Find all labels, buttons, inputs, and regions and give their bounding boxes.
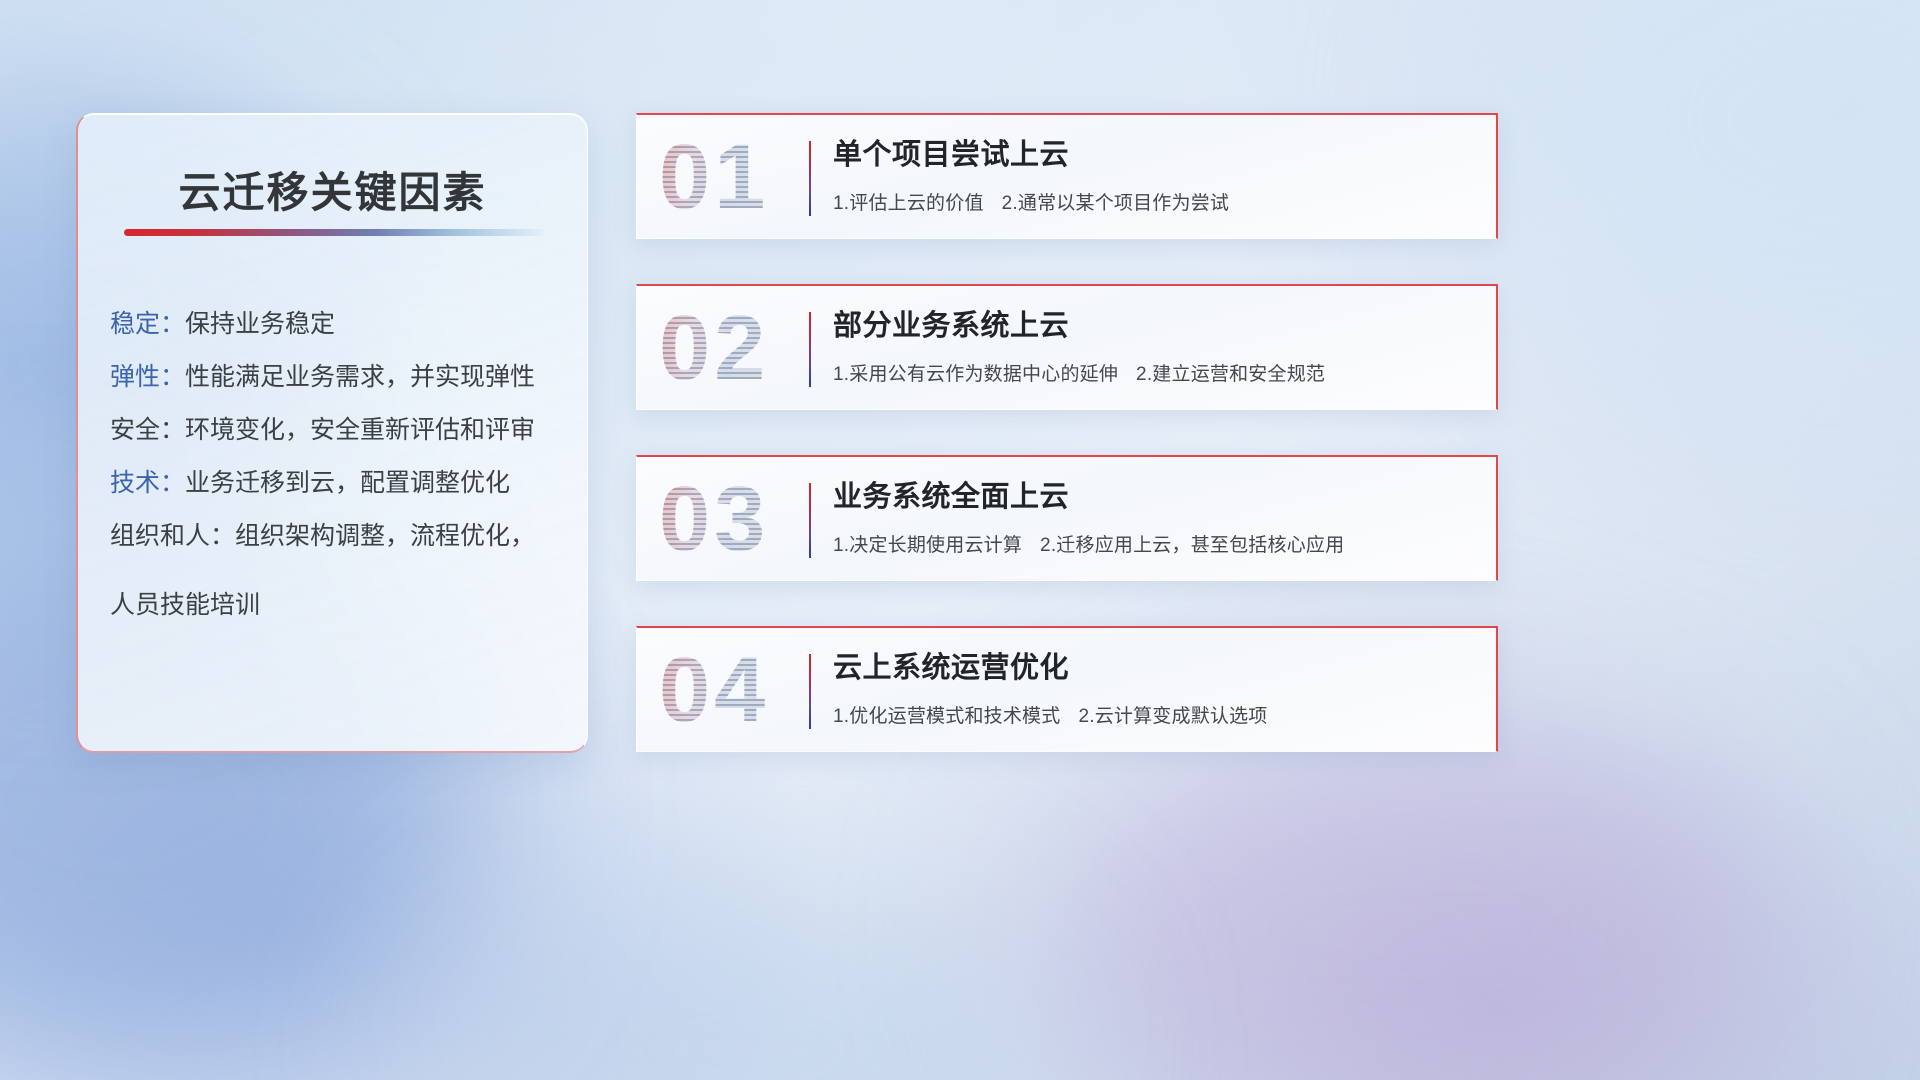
factor-item-organization-continuation: 人员技能培训 <box>110 585 563 621</box>
factor-label: 组织和人： <box>110 522 235 550</box>
factor-item-technology: 技术：业务迁移到云，配置调整优化 <box>110 471 563 496</box>
card-body: 业务系统全面上云 1.决定长期使用云计算2.迁移应用上云，甚至包括核心应用 <box>833 481 1478 557</box>
card-divider-line <box>809 483 811 558</box>
slide-root: 云迁移关键因素 稳定：保持业务稳定 弹性：性能满足业务需求，并实现弹性 安全：环… <box>0 0 1920 1080</box>
card-description-item-1: 1.采用公有云作为数据中心的延伸 <box>833 364 1118 385</box>
card-description-item-2: 2.通常以某个项目作为尝试 <box>1002 193 1229 214</box>
background-blob-upper-right <box>1480 0 1920 400</box>
stage-number-01: 01 <box>659 131 769 223</box>
background-blob-lower-right <box>1020 700 1780 1080</box>
card-description: 1.优化运营模式和技术模式2.云计算变成默认选项 <box>833 701 1478 728</box>
stage-card-01[interactable]: 01 单个项目尝试上云 1.评估上云的价值2.通常以某个项目作为尝试 <box>636 113 1498 239</box>
card-description: 1.决定长期使用云计算2.迁移应用上云，甚至包括核心应用 <box>833 530 1478 557</box>
card-body: 云上系统运营优化 1.优化运营模式和技术模式2.云计算变成默认选项 <box>833 652 1478 728</box>
page-title: 云迁移关键因素 <box>78 159 587 220</box>
card-title: 部分业务系统上云 <box>833 310 1478 343</box>
factor-text: 保持业务稳定 <box>185 310 335 338</box>
factor-label: 安全： <box>110 416 185 444</box>
card-description: 1.采用公有云作为数据中心的延伸2.建立运营和安全规范 <box>833 359 1478 386</box>
factor-list: 稳定：保持业务稳定 弹性：性能满足业务需求，并实现弹性 安全：环境变化，安全重新… <box>110 312 563 621</box>
factor-text: 环境变化，安全重新评估和评审 <box>185 416 535 444</box>
stage-card-03[interactable]: 03 业务系统全面上云 1.决定长期使用云计算2.迁移应用上云，甚至包括核心应用 <box>636 455 1498 581</box>
factor-text: 组织架构调整，流程优化， <box>235 522 535 550</box>
card-title: 业务系统全面上云 <box>833 481 1478 514</box>
card-description-item-2: 2.云计算变成默认选项 <box>1078 706 1267 727</box>
factor-label: 技术： <box>110 469 185 497</box>
factor-text: 业务迁移到云，配置调整优化 <box>185 469 510 497</box>
card-description: 1.评估上云的价值2.通常以某个项目作为尝试 <box>833 188 1478 215</box>
card-description-item-1: 1.优化运营模式和技术模式 <box>833 706 1060 727</box>
factor-item-elasticity: 弹性：性能满足业务需求，并实现弹性 <box>110 365 563 390</box>
card-description-item-2: 2.迁移应用上云，甚至包括核心应用 <box>1040 535 1344 556</box>
stage-card-04[interactable]: 04 云上系统运营优化 1.优化运营模式和技术模式2.云计算变成默认选项 <box>636 626 1498 752</box>
factor-item-security: 安全：环境变化，安全重新评估和评审 <box>110 418 563 443</box>
stage-card-02[interactable]: 02 部分业务系统上云 1.采用公有云作为数据中心的延伸2.建立运营和安全规范 <box>636 284 1498 410</box>
card-description-item-2: 2.建立运营和安全规范 <box>1136 364 1325 385</box>
stage-card-list: 01 单个项目尝试上云 1.评估上云的价值2.通常以某个项目作为尝试 02 部分… <box>636 113 1498 752</box>
card-body: 单个项目尝试上云 1.评估上云的价值2.通常以某个项目作为尝试 <box>833 139 1478 215</box>
card-title: 单个项目尝试上云 <box>833 139 1478 172</box>
factor-item-organization: 组织和人：组织架构调整，流程优化， <box>110 524 563 549</box>
card-body: 部分业务系统上云 1.采用公有云作为数据中心的延伸2.建立运营和安全规范 <box>833 310 1478 386</box>
card-title: 云上系统运营优化 <box>833 652 1478 685</box>
card-divider-line <box>809 141 811 216</box>
card-divider-line <box>809 654 811 729</box>
stage-number-03: 03 <box>659 473 769 565</box>
card-description-item-1: 1.评估上云的价值 <box>833 193 984 214</box>
stage-number-04: 04 <box>659 644 769 736</box>
key-factors-panel: 云迁移关键因素 稳定：保持业务稳定 弹性：性能满足业务需求，并实现弹性 安全：环… <box>76 113 588 753</box>
card-divider-line <box>809 312 811 387</box>
background-blob-bottom-center <box>430 880 1070 1080</box>
stage-number-02: 02 <box>659 302 769 394</box>
factor-label: 稳定： <box>110 310 185 338</box>
factor-item-stability: 稳定：保持业务稳定 <box>110 312 563 337</box>
factor-label: 弹性： <box>110 363 185 391</box>
factor-text: 性能满足业务需求，并实现弹性 <box>185 363 535 391</box>
card-description-item-1: 1.决定长期使用云计算 <box>833 535 1022 556</box>
title-underline-gradient <box>124 229 544 236</box>
